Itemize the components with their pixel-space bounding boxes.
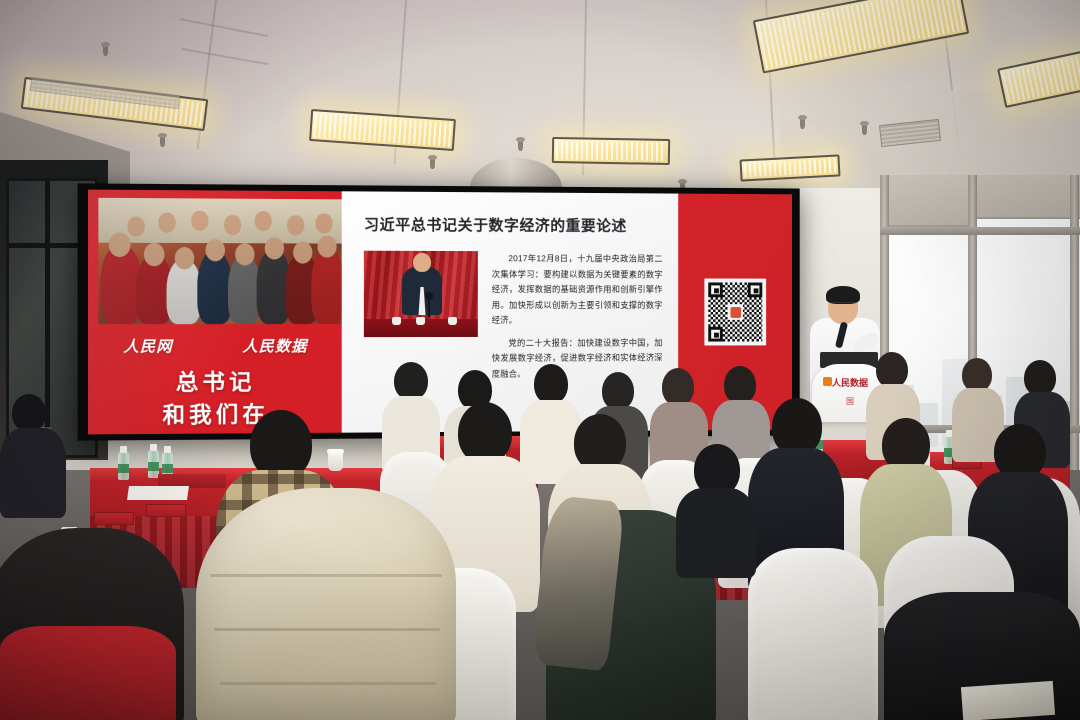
window-roller-blind: [880, 175, 972, 227]
qr-center-logo: [728, 304, 743, 320]
audience-member-foreground: [196, 488, 456, 720]
peoples-daily-online-logo: 人民网: [123, 335, 172, 356]
microphone-icon: [428, 297, 430, 317]
conference-room-photo: 人民网 人民数据 总书记 和我们在 习近平总书记关于数字经济的重要论述: [0, 0, 1080, 720]
notebook: [961, 681, 1055, 720]
collage-shading: [98, 198, 341, 324]
peoples-data-logo: 人民数据: [242, 335, 307, 356]
name-card: [94, 512, 134, 525]
person-torso: [0, 428, 66, 518]
tea-cup: [448, 317, 457, 325]
paper-sheet: [127, 486, 189, 500]
qr-finder-icon: [748, 283, 762, 298]
slide-left-headline: 总书记: [88, 364, 342, 397]
red-chair-cover: [0, 626, 176, 720]
slide-paragraph: 2017年12月8日，十九届中央政治局第二次集体学习：要构建以数据为关键要素的数…: [492, 251, 663, 329]
qr-code[interactable]: [704, 278, 766, 345]
person-torso: [676, 488, 756, 578]
person-head: [1024, 360, 1056, 396]
tea-cup: [416, 317, 425, 325]
person-head: [394, 362, 428, 400]
tea-cup: [392, 317, 401, 325]
person-torso: [196, 488, 456, 720]
banquet-chair: [748, 548, 878, 720]
person-head: [534, 364, 568, 404]
person-head: [602, 372, 634, 410]
water-bottle: [118, 452, 129, 480]
person-head: [962, 358, 992, 392]
person-head: [662, 368, 694, 406]
ceiling-light: [552, 137, 670, 165]
puffer-seam: [214, 628, 440, 631]
slide-left-panel: 人民网 人民数据 总书记 和我们在: [88, 190, 342, 435]
person-head: [12, 394, 46, 432]
leader-photo: [364, 251, 478, 337]
audience-member: [0, 394, 66, 514]
sprinkler-head: [160, 136, 165, 147]
slide-logo-row: 人民网 人民数据: [88, 332, 342, 359]
puffer-seam: [220, 682, 436, 685]
sprinkler-head: [103, 45, 108, 56]
window-frame: [880, 227, 1080, 235]
group-photo-collage: [98, 198, 341, 324]
qr-finder-icon: [708, 282, 723, 297]
audience-member-foreground: [676, 444, 756, 564]
window-roller-blind: [972, 175, 1080, 219]
slide-title: 习近平总书记关于数字经济的重要论述: [364, 214, 678, 236]
sprinkler-head: [518, 140, 523, 151]
sprinkler-head: [862, 124, 867, 135]
sprinkler-head: [800, 118, 805, 129]
name-card: [146, 504, 186, 517]
seated-speaker-figure: [402, 267, 442, 315]
sprinkler-head: [430, 158, 435, 169]
puffer-seam: [210, 574, 442, 577]
person-head: [876, 352, 908, 388]
brand-mark-icon: [730, 307, 741, 318]
window-frame: [1070, 175, 1079, 495]
qr-finder-icon: [708, 327, 723, 342]
glasses-icon: [830, 302, 856, 308]
person-head: [458, 402, 512, 464]
